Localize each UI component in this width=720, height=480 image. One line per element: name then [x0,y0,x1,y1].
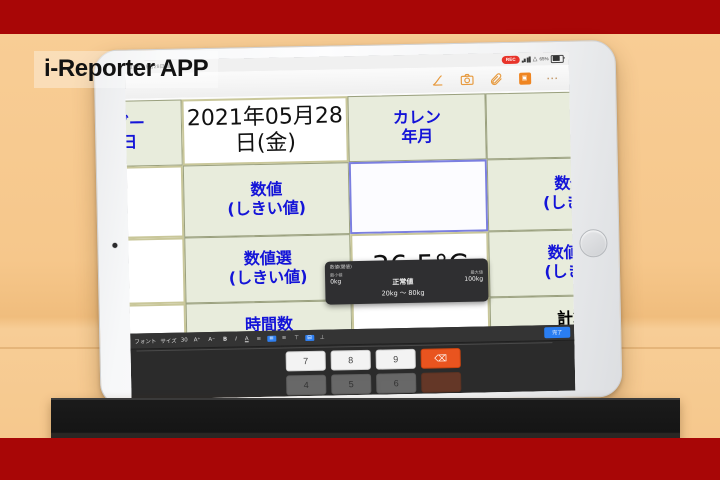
tablet-device: 16:57 5月28日(金) REC △ 65% [93,40,622,407]
key-6[interactable]: 6 [376,373,416,394]
signature-pen-icon[interactable] [430,72,445,87]
format-toolbar: フォント サイズ 30 A⁺ A⁻ B I A ≡ ≡ ≡ ⊤ ⊟ ⊥ [130,325,575,400]
signal-icon [522,56,531,62]
bold-button[interactable]: B [221,336,229,342]
cell-label-calendar-right[interactable]: カレン 年月 [348,93,487,162]
cell-value-numeric-left[interactable]: 0 [125,166,184,241]
camera-icon[interactable] [459,72,474,87]
cell-label-numeric-right[interactable]: 数値 (しきい [487,156,576,231]
key-8[interactable]: 8 [331,350,371,371]
label-line1: 数値 [554,175,575,195]
tooltip-normal-range: 20kg ～ 80kg [382,289,425,298]
align-left-button[interactable]: ≡ [255,335,264,341]
cell-value-select-left[interactable] [125,237,185,306]
label-line2: 年月 [401,127,433,147]
text-color-button[interactable]: A [243,336,251,342]
cell-label-numeric-threshold[interactable]: 数値 (しきい値) [183,162,350,237]
tooltip-values: 0kg 正常値 20kg ～ 80kg 100kg [330,276,483,299]
overlay-title-backdrop: i-Reporter APP [34,51,218,88]
numeric-keypad: 7 8 9 ⌫ 4 5 6 [286,348,467,400]
font-label: フォント [134,337,156,345]
label-line2: (しきい [544,262,575,282]
wifi-icon: △ [533,55,538,62]
tooltip-normal-block: 正常値 20kg ～ 80kg [341,276,465,298]
valign-middle-button[interactable]: ⊟ [305,334,314,340]
cell-spacer-right [485,90,575,159]
front-camera-icon [112,243,117,248]
keypad-row-next: 4 5 6 [286,372,466,396]
increase-font-button[interactable]: A⁺ [192,337,203,343]
memo-square-glyph: ▣ [518,72,530,84]
battery-icon [551,54,564,62]
key-9[interactable]: 9 [376,349,416,370]
cell-value-numeric-selected[interactable] [349,159,489,234]
label-line2: (しきい値) [229,268,308,288]
keypad-row-top: 7 8 9 ⌫ [286,348,466,372]
valign-top-button[interactable]: ⊤ [292,335,301,341]
label-line1: カレン [393,108,441,128]
tablet-screen: 16:57 5月28日(金) REC △ 65% [125,52,576,400]
label-line2: (しきい [543,193,576,213]
done-button[interactable]: 完了 [544,327,570,339]
label-line2: 年月日 [125,133,137,153]
more-options-icon[interactable]: ⋯ [546,71,559,83]
screenshot-stage: 16:57 5月28日(金) REC △ 65% [0,0,720,480]
recording-badge: REC [502,55,520,63]
key-backspace[interactable]: ⌫ [421,348,461,369]
threshold-tooltip: 数値(閾値) 最小値 最大値 0kg 正常値 20kg ～ 80kg 100kg [325,258,489,304]
size-value[interactable]: 30 [181,337,188,343]
cell-label-select-right[interactable]: 数値選 (しきい [488,228,575,297]
label-line1: 数値選 [547,243,575,263]
decrease-font-button[interactable]: A⁻ [206,336,217,342]
size-label: サイズ [160,336,177,344]
cell-label-calendar-left[interactable]: レンダー 年月日 [125,100,182,169]
label-line1: 数値 [250,181,282,201]
cell-value-date[interactable]: 2021年05月28日(金) [181,96,348,165]
tooltip-min-value: 0kg [330,278,341,285]
paperclip-icon[interactable] [488,71,503,86]
battery-percent: 65% [539,56,548,61]
stand-top-edge [51,398,680,400]
key-5[interactable]: 5 [331,374,371,395]
label-line2: (しきい値) [227,199,306,219]
form-sheet: レンダー 年月日 2021年05月28日(金) カレン 年月 [125,90,575,400]
form-grid: レンダー 年月日 2021年05月28日(金) カレン 年月 [125,90,575,352]
home-button[interactable] [579,229,608,258]
key-backspace-2[interactable] [421,372,461,393]
italic-button[interactable]: I [233,336,239,342]
valign-bottom-button[interactable]: ⊥ [318,334,327,340]
form-row: レンダー 年月日 2021年05月28日(金) カレン 年月 [125,90,575,168]
page-title: i-Reporter APP [44,55,208,83]
align-center-button[interactable]: ≡ [267,335,276,341]
key-7[interactable]: 7 [286,351,326,372]
tooltip-normal-label: 正常値 [392,278,413,286]
form-row: 0 数値 (しきい値) 数値 (しきい [125,156,575,240]
key-4[interactable]: 4 [286,375,326,396]
tooltip-max-value: 100kg [464,276,483,283]
memo-square-icon[interactable]: ▣ [517,70,532,85]
align-right-button[interactable]: ≡ [280,335,289,341]
top-red-band [0,0,720,34]
status-right: REC △ 65% [502,54,564,63]
label-line1: 数値選 [244,249,292,269]
value-text: 2021年05月28日(金) [184,103,347,158]
bottom-red-band [0,438,720,480]
